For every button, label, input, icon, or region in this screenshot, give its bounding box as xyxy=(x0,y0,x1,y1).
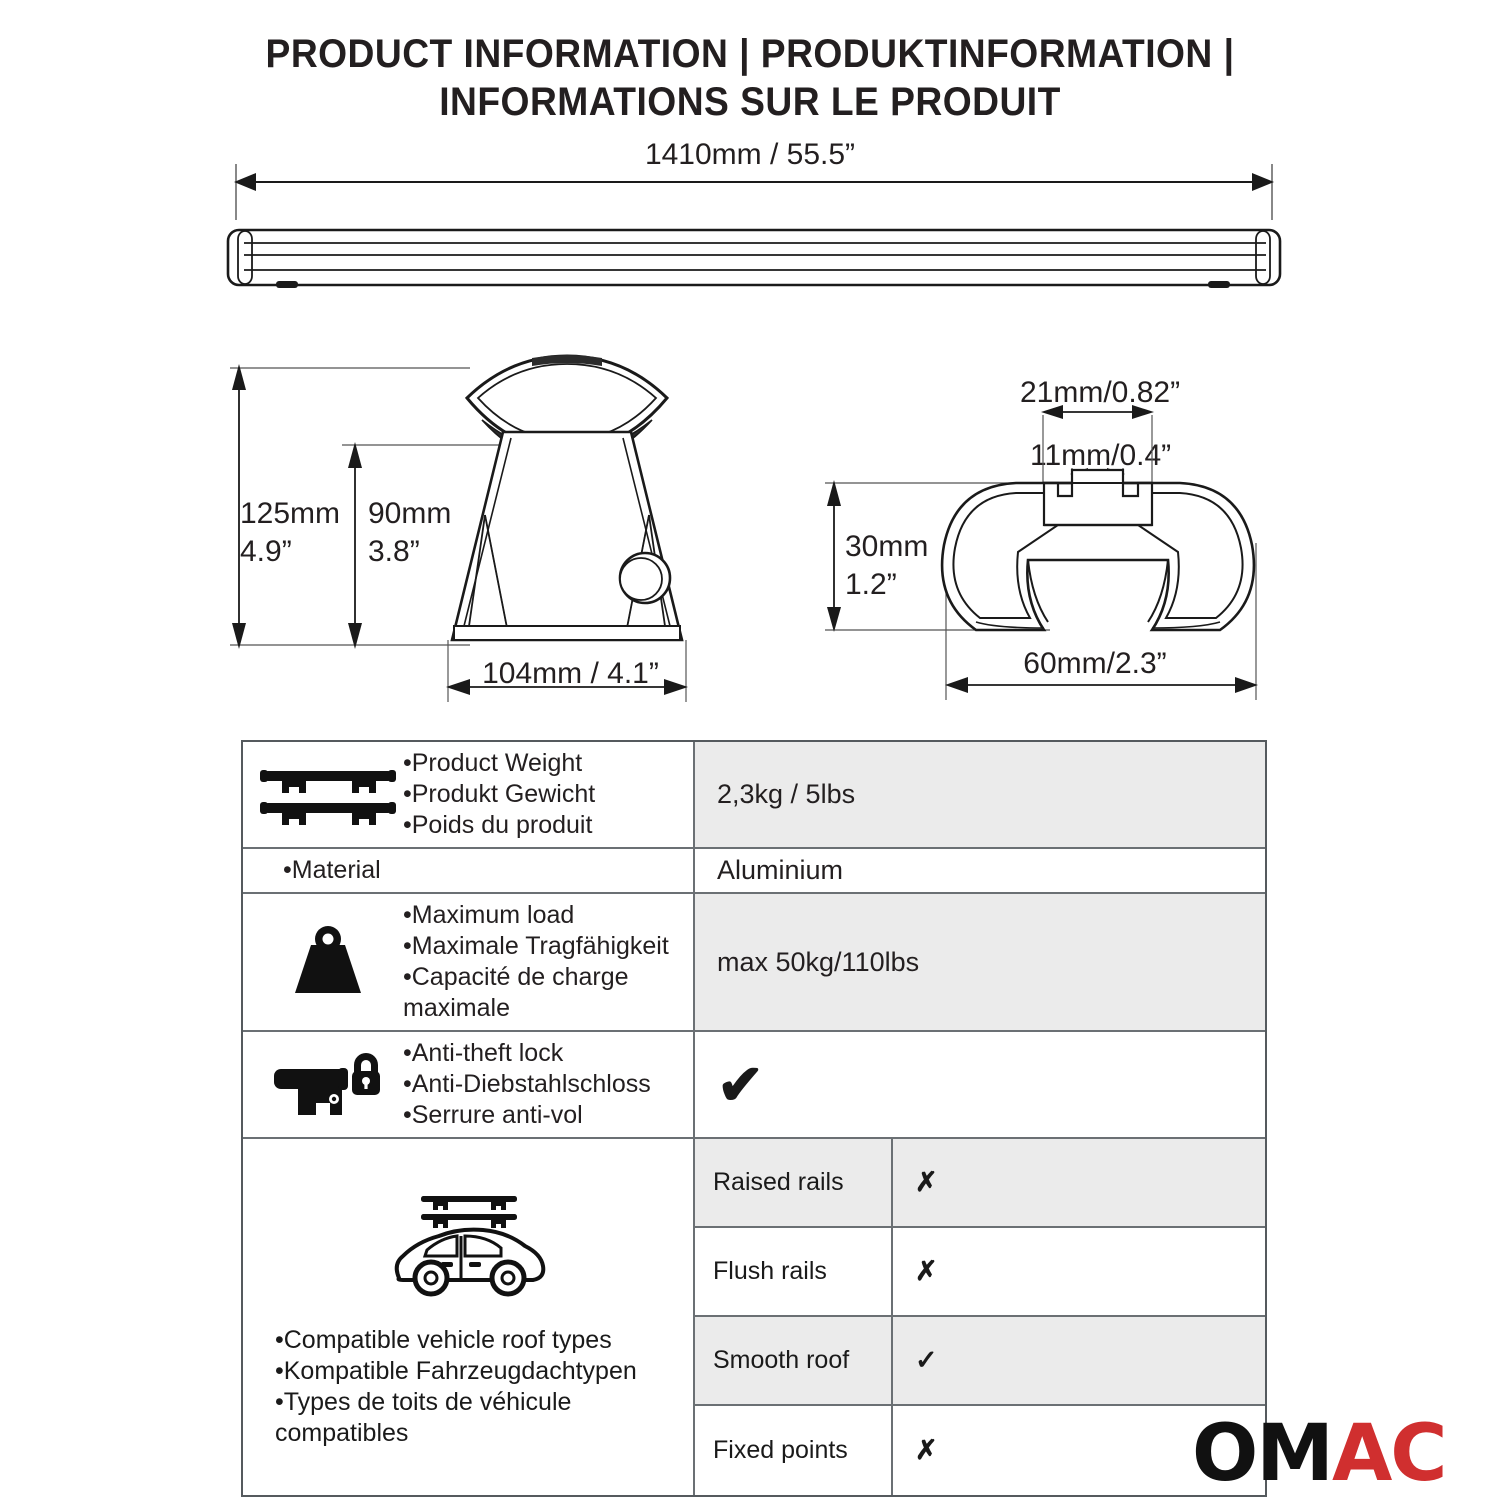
logo-text-dark: OM xyxy=(1192,1409,1332,1499)
roof-type-row-fixed-points: Fixed points ✗ xyxy=(695,1406,1265,1495)
check-icon: ✓ xyxy=(893,1317,1265,1404)
roof-type-name: Fixed points xyxy=(695,1406,893,1495)
cross-icon: ✗ xyxy=(893,1228,1265,1315)
roof-type-name: Smooth roof xyxy=(695,1317,893,1404)
lock-icon xyxy=(253,1047,403,1123)
row-label-cell: •Product Weight •Produkt Gewicht •Poids … xyxy=(243,742,695,847)
omac-logo: OMAC xyxy=(1192,1415,1446,1493)
page-title-line-2: INFORMATIONS SUR LE PRODUIT xyxy=(53,78,1448,126)
table-row-anti-theft-lock: •Anti-theft lock •Anti-Diebstahlschloss … xyxy=(243,1032,1265,1139)
row-label-text: •Product Weight •Produkt Gewicht •Poids … xyxy=(403,748,685,841)
roof-type-name: Raised rails xyxy=(695,1139,893,1226)
logo-text-red: AC xyxy=(1332,1409,1446,1499)
row-label-text: •Material xyxy=(253,855,685,886)
specification-table: •Product Weight •Produkt Gewicht •Poids … xyxy=(241,740,1267,1497)
table-row-material: •Material Aluminium xyxy=(243,849,1265,894)
roof-type-row-smooth-roof: Smooth roof ✓ xyxy=(695,1317,1265,1406)
car-with-rack-icon xyxy=(383,1186,553,1309)
row-label-cell: •Maximum load •Maximale Tragfähigkeit •C… xyxy=(243,894,695,1030)
cross-icon: ✗ xyxy=(893,1139,1265,1226)
check-icon: ✔ xyxy=(717,1057,764,1113)
row-value-product-weight: 2,3kg / 5lbs xyxy=(695,742,1265,847)
row-label-text: •Maximum load •Maximale Tragfähigkeit •C… xyxy=(403,900,685,1024)
row-label-cell: •Anti-theft lock •Anti-Diebstahlschloss … xyxy=(243,1032,695,1137)
table-row-maximum-load: •Maximum load •Maximale Tragfähigkeit •C… xyxy=(243,894,1265,1032)
roof-types-label: •Compatible vehicle roof types •Kompatib… xyxy=(253,1325,683,1449)
mounting-foot-diagram xyxy=(220,350,720,710)
roof-type-row-flush-rails: Flush rails ✗ xyxy=(695,1228,1265,1317)
roof-type-row-raised-rails: Raised rails ✗ xyxy=(695,1139,1265,1228)
table-row-roof-types: •Compatible vehicle roof types •Kompatib… xyxy=(243,1139,1265,1495)
roof-type-name: Flush rails xyxy=(695,1228,893,1315)
row-value-anti-theft-lock: ✔ xyxy=(695,1032,1265,1137)
bar-cross-section-diagram xyxy=(800,360,1300,710)
table-row-product-weight: •Product Weight •Produkt Gewicht •Poids … xyxy=(243,742,1265,849)
row-label-cell: •Compatible vehicle roof types •Kompatib… xyxy=(243,1139,695,1495)
page-title-line-1: PRODUCT INFORMATION | PRODUKTINFORMATION… xyxy=(53,30,1448,78)
roof-types-subtable: Raised rails ✗ Flush rails ✗ Smooth roof… xyxy=(695,1139,1265,1495)
row-label-text: •Anti-theft lock •Anti-Diebstahlschloss … xyxy=(403,1038,685,1131)
row-label-cell: •Material xyxy=(243,849,695,892)
crossbar-length-diagram xyxy=(220,160,1290,310)
page-title: PRODUCT INFORMATION | PRODUKTINFORMATION… xyxy=(0,30,1500,126)
row-value-maximum-load: max 50kg/110lbs xyxy=(695,894,1265,1030)
weight-icon xyxy=(253,923,403,1001)
two-crossbars-icon xyxy=(253,759,403,831)
row-value-material: Aluminium xyxy=(695,849,1265,892)
